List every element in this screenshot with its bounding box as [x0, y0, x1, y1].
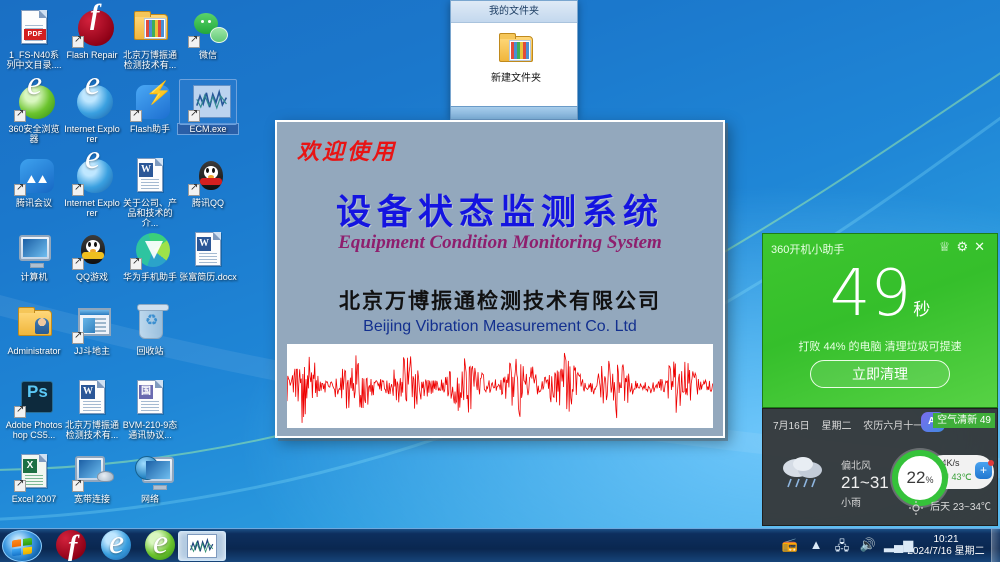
ecm-waveform-icon: [188, 82, 228, 122]
volume-icon[interactable]: 🔊: [858, 537, 878, 555]
internet-explorer-icon: [72, 82, 112, 122]
splash-company-en: Beijing Vibration Measurement Co. Ltd: [277, 318, 723, 336]
clock-date: 2024/7/16 星期二: [907, 546, 985, 558]
desktop-icon-qq-game[interactable]: QQ游戏: [62, 230, 122, 282]
weather-weekday: 星期二: [821, 421, 851, 432]
boot-subtitle: 打败 44% 的电脑 清理垃圾可提速: [763, 338, 997, 354]
boot-seconds-number: 49: [830, 257, 911, 331]
explorer-folder-item[interactable]: 新建文件夹: [481, 31, 551, 84]
desktop-icon-excel-2007[interactable]: X Excel 2007: [4, 452, 64, 504]
desktop-icon-label: Administrator: [4, 346, 64, 356]
taskbar-clock[interactable]: 10:21 2024/7/16 星期二: [907, 534, 991, 558]
taskbar-button-flash-repair[interactable]: [52, 531, 96, 561]
qq-game-icon: [72, 230, 112, 270]
desktop-icon-tencent-meeting[interactable]: 腾讯会议: [4, 156, 64, 208]
chevron-up-icon[interactable]: ▲: [806, 537, 826, 555]
folder-icon: [130, 8, 170, 48]
desktop-icon-internet-explorer-2[interactable]: Internet Explorer: [62, 156, 122, 218]
close-icon[interactable]: ✕: [974, 239, 991, 254]
cpu-usage-value: 22: [907, 468, 926, 487]
desktop-icon-label: 北京万博振通检测技术有...: [62, 420, 122, 440]
desktop-icon-jj-game[interactable]: JJ斗地主: [62, 304, 122, 356]
word-document-icon: W: [72, 378, 112, 418]
internet-explorer-icon: [72, 156, 112, 196]
widget-title: 360开机小助手: [771, 244, 844, 256]
desktop-icon-label: 华为手机助手: [120, 272, 180, 282]
desktop-icon-huawei-assistant[interactable]: 华为手机助手: [120, 230, 180, 282]
desktop-icon-label: 腾讯QQ: [178, 198, 238, 208]
network-share-icon[interactable]: 🖧: [832, 537, 852, 555]
jj-game-icon: [72, 304, 112, 344]
desktop-icon-company-intro-doc[interactable]: W 关于公司、产品和技术的介...: [120, 156, 180, 228]
weather-temp-range: 21~31: [841, 473, 889, 493]
desktop-icon-label: 张富简历.docx: [178, 272, 238, 282]
desktop-icon-label: Flash助手: [120, 124, 180, 134]
gear-icon[interactable]: ⚙: [956, 239, 974, 254]
photoshop-icon: [14, 378, 54, 418]
tencent-meeting-icon: [14, 156, 54, 196]
sun-icon: [909, 501, 923, 515]
desktop-icon-label: Adobe Photoshop CS5...: [4, 420, 64, 440]
clock-time: 10:21: [907, 534, 985, 546]
explorer-content[interactable]: 新建文件夹: [451, 23, 577, 119]
word-document-icon: W: [188, 230, 228, 270]
weather-temperature-block: 偏北风 21~31 小雨: [841, 457, 889, 509]
word-document-icon: W: [130, 156, 170, 196]
desktop-icon-label: Flash Repair: [62, 50, 122, 60]
network-icon: [130, 452, 170, 492]
desktop-icon-label: JJ斗地主: [62, 346, 122, 356]
widget-header: 360开机小助手 ♕⚙✕: [771, 240, 991, 256]
desktop-icon-bvm-protocol-doc[interactable]: 国 BVM-210-9态通讯协议...: [120, 378, 180, 440]
windows-logo-icon: [12, 538, 32, 557]
desktop-icon-label: Excel 2007: [4, 494, 64, 504]
widget-header-actions[interactable]: ♕⚙✕: [939, 239, 991, 255]
weather-wind: 偏北风: [841, 457, 889, 472]
taskbar[interactable]: 📻 ▲ 🖧 🔊 ▂▄▆ 10:21 2024/7/16 星期二: [0, 528, 1000, 562]
computer-icon: [14, 230, 54, 270]
boot-seconds-value: 49秒: [763, 262, 997, 342]
taskbar-button-ecm-app[interactable]: [178, 531, 226, 561]
desktop-icon-label: BVM-210-9态通讯协议...: [120, 420, 180, 440]
desktop-icon-broadband[interactable]: 宽带连接: [62, 452, 122, 504]
flash-helper-icon: [130, 82, 170, 122]
start-button[interactable]: [2, 530, 42, 562]
taskbar-button-internet-explorer[interactable]: [96, 531, 140, 561]
desktop-icon-label: 关于公司、产品和技术的介...: [120, 198, 180, 228]
desktop-icon-360-browser[interactable]: 360安全浏览器: [4, 82, 64, 144]
user-folder-icon: [14, 304, 54, 344]
desktop-background: PDF 1_FS-N40系列中文目录.... Flash Repair 北京万博…: [0, 0, 1000, 562]
desktop-icon-computer[interactable]: 计算机: [4, 230, 64, 282]
air-quality-badge: 空气清新 49: [933, 413, 995, 428]
360-boot-assistant-widget[interactable]: 360开机小助手 ♕⚙✕ 49秒 打败 44% 的电脑 清理垃圾可提速 立即清理: [762, 233, 998, 408]
desktop-icon-wechat[interactable]: 微信: [178, 8, 238, 60]
vibration-waveform: [287, 344, 713, 428]
desktop-icon-label: 微信: [178, 50, 238, 60]
file-explorer-window[interactable]: 我的文件夹 新建文件夹: [450, 0, 578, 118]
folder-icon: [496, 31, 536, 67]
rain-cloud-icon: [777, 454, 831, 488]
splash-welcome-text: 欢迎使用: [297, 134, 397, 166]
pdf-document-icon: PDF: [14, 8, 54, 48]
add-widget-button[interactable]: +: [975, 462, 992, 479]
explorer-title: 我的文件夹: [451, 1, 577, 23]
desktop-icon-photoshop[interactable]: Adobe Photoshop CS5...: [4, 378, 64, 440]
desktop-icon-label: 网络: [120, 494, 180, 504]
shirt-icon[interactable]: ♕: [939, 239, 957, 254]
weather-lunar: 农历六月十一: [863, 421, 923, 432]
desktop-icon-flash-repair[interactable]: Flash Repair: [62, 8, 122, 60]
explorer-window-strip: [450, 106, 578, 120]
desktop-icon-ecm-exe[interactable]: ECM.exe: [178, 82, 238, 134]
browser-360-icon: [14, 82, 54, 122]
desktop-icon-label: 北京万博振通检测技术有...: [120, 50, 180, 70]
radio-icon[interactable]: 📻: [780, 537, 800, 555]
percent-symbol: %: [925, 475, 933, 485]
desktop-icon-flash-helper[interactable]: Flash助手: [120, 82, 180, 134]
boot-seconds-unit: 秒: [913, 300, 930, 320]
flash-repair-icon: [72, 8, 112, 48]
recycle-bin-icon: [130, 304, 170, 344]
splash-title-cn: 设备状态监测系统: [277, 184, 723, 235]
splash-company-cn: 北京万博振通检测技术有限公司: [277, 285, 723, 315]
show-desktop-button[interactable]: [991, 529, 1000, 562]
huawei-assistant-icon: [130, 230, 170, 270]
desktop-icon-label: 计算机: [4, 272, 64, 282]
desktop-icon-tencent-qq[interactable]: 腾讯QQ: [178, 156, 238, 208]
excel-icon: X: [14, 452, 54, 492]
ecm-splash-window[interactable]: 欢迎使用 设备状态监测系统 Equipment Condition Monito…: [275, 120, 725, 438]
tencent-qq-icon: [188, 156, 228, 196]
desktop-icon-administrator[interactable]: Administrator: [4, 304, 64, 356]
weather-date: 7月16日: [773, 421, 810, 432]
vibration-waveform-panel: [287, 344, 713, 428]
desktop-icon-label: 360安全浏览器: [4, 124, 64, 144]
weather-system-widget[interactable]: 7月16日 星期二 农历六月十一 AI 空气清新 49 偏北风 21~31 小雨…: [762, 408, 998, 526]
desktop-icon-company-doc[interactable]: W 北京万博振通检测技术有...: [62, 378, 122, 440]
signal-icon[interactable]: ▂▄▆: [884, 537, 904, 555]
desktop-icon-resume-docx[interactable]: W 张富简历.docx: [178, 230, 238, 282]
broadband-connection-icon: [72, 452, 112, 492]
document-icon: 国: [130, 378, 170, 418]
desktop-icon-label: Internet Explorer: [62, 198, 122, 218]
splash-title-en: Equipment Condition Monitoring System: [277, 232, 723, 254]
explorer-item-label: 新建文件夹: [491, 73, 541, 84]
system-tray[interactable]: 📻 ▲ 🖧 🔊 ▂▄▆ 10:21 2024/7/16 星期二: [777, 529, 1000, 562]
desktop-icon-label: ECM.exe: [178, 124, 238, 134]
desktop-icon-label: 宽带连接: [62, 494, 122, 504]
wechat-icon: [188, 8, 228, 48]
clean-now-button[interactable]: 立即清理: [810, 360, 950, 388]
desktop-icon-label: 腾讯会议: [4, 198, 64, 208]
desktop-icon-company-folder[interactable]: 北京万博振通检测技术有...: [120, 8, 180, 70]
desktop-icon-label: 回收站: [120, 346, 180, 356]
desktop-icon-label: QQ游戏: [62, 272, 122, 282]
weather-forecast: 后天 23~34℃: [930, 498, 991, 513]
weather-condition: 小雨: [841, 494, 889, 509]
desktop-icon-pdf-catalog[interactable]: PDF 1_FS-N40系列中文目录....: [4, 8, 64, 70]
desktop-icon-network[interactable]: 网络: [120, 452, 180, 504]
desktop-icon-recycle-bin[interactable]: 回收站: [120, 304, 180, 356]
desktop-icon-internet-explorer[interactable]: Internet Explorer: [62, 82, 122, 144]
